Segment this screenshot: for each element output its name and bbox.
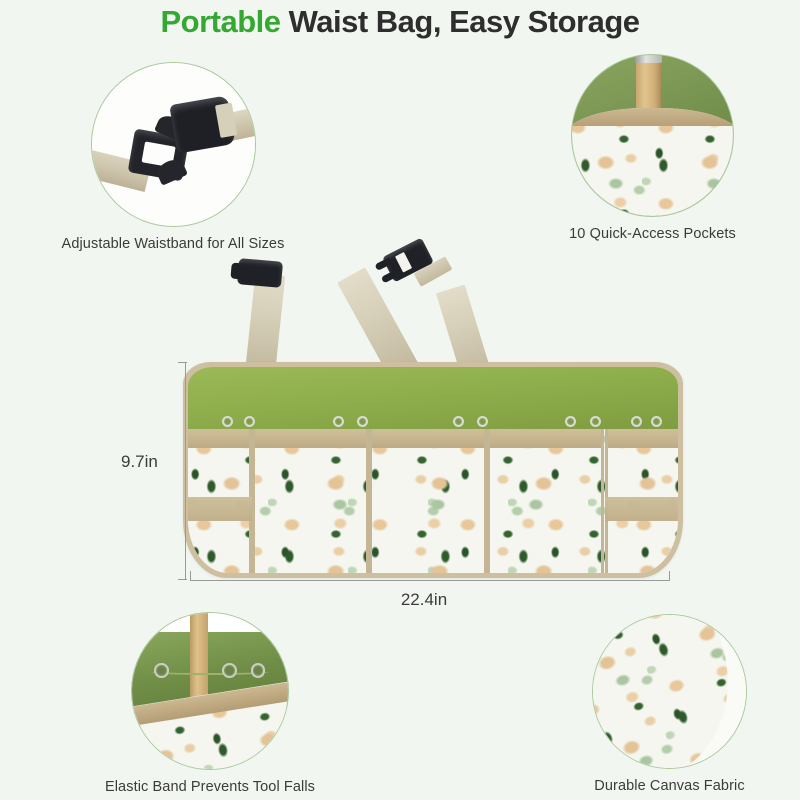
buckle-slot — [395, 252, 412, 273]
feature-image-elastic-band — [131, 612, 289, 770]
pocket-hem — [490, 429, 602, 448]
title-highlight: Portable — [160, 4, 280, 39]
burlap-band-left — [188, 497, 252, 522]
bag-body — [183, 362, 683, 578]
pocket-large-1 — [252, 429, 370, 573]
bag-body-inner — [188, 367, 678, 573]
pocket-hem — [255, 429, 367, 448]
buckle-male-half — [237, 258, 283, 288]
pocket-hem — [608, 429, 679, 448]
buckle-male-graphic — [169, 96, 235, 154]
burlap-band-right — [605, 497, 679, 522]
dimension-height-label: 9.7in — [121, 452, 158, 472]
grommet-icon — [251, 663, 266, 678]
grommet-icon — [453, 416, 464, 427]
feature-image-durable-canvas — [592, 614, 747, 769]
title-rest: Waist Bag, Easy Storage — [289, 4, 640, 39]
feature-image-adjustable-waistband — [91, 62, 256, 227]
feature-elastic-band: Elastic Band Prevents Tool Falls — [95, 612, 325, 795]
feature-caption-elastic-band: Elastic Band Prevents Tool Falls — [95, 779, 325, 795]
pocket-trim-graphic — [571, 108, 734, 126]
buckle-prong-lower — [381, 270, 398, 284]
pocket-large-2 — [369, 429, 487, 573]
dimension-line-vertical — [185, 362, 186, 580]
dimension-cap-bottom — [178, 579, 187, 580]
grommet-icon — [154, 663, 169, 678]
feature-durable-canvas: Durable Canvas Fabric — [562, 614, 777, 794]
dimension-cap-left — [190, 571, 191, 581]
pocket-tool-photo — [572, 55, 733, 216]
dimension-cap-top — [178, 362, 187, 363]
dimension-cap-right — [669, 571, 670, 581]
pocket-hem — [372, 429, 484, 448]
dimension-width-label: 22.4in — [24, 590, 800, 610]
pocket-row — [188, 429, 678, 573]
buckle-prong-upper — [374, 257, 391, 271]
canvas-fabric-photo — [593, 615, 746, 768]
buckle-photo — [92, 63, 255, 226]
floral-pocket-graphic — [571, 108, 734, 217]
metal-ferrule-graphic — [635, 54, 662, 63]
elastic-band-photo — [132, 613, 288, 769]
feature-quick-access-pockets: 10 Quick-Access Pockets — [530, 54, 775, 242]
pocket-hem — [188, 429, 249, 448]
product-main-image — [183, 236, 683, 584]
grommet-icon — [333, 416, 344, 427]
pocket-large-3 — [487, 429, 605, 573]
feature-adjustable-waistband: Adjustable Waistband for All Sizes — [58, 62, 288, 252]
grommet-icon — [222, 663, 237, 678]
feature-image-quick-access-pockets — [571, 54, 734, 217]
infographic-canvas: Portable Waist Bag, Easy Storage Adjusta… — [0, 0, 800, 800]
dimension-line-horizontal — [190, 580, 670, 581]
page-title: Portable Waist Bag, Easy Storage — [0, 4, 800, 40]
feature-caption-durable-canvas: Durable Canvas Fabric — [562, 778, 777, 794]
